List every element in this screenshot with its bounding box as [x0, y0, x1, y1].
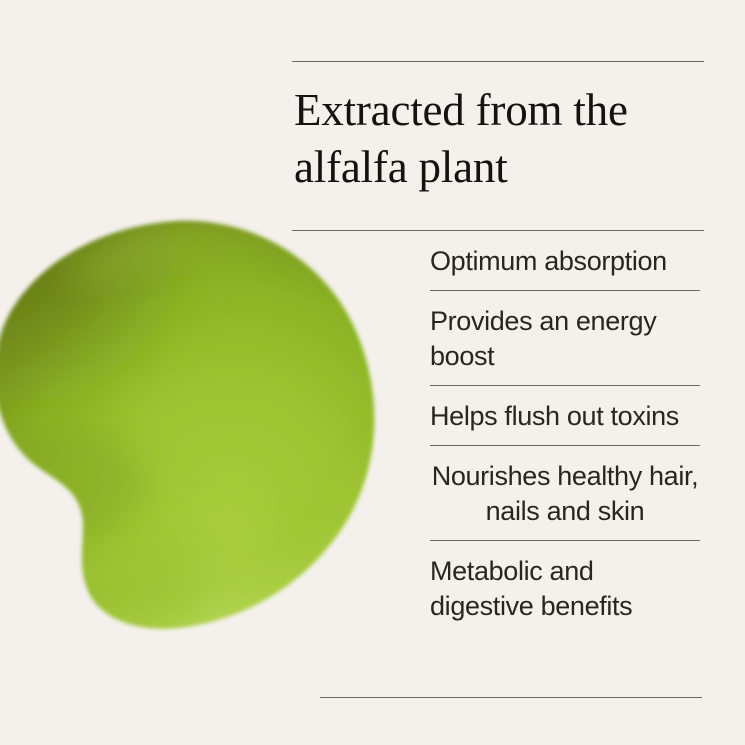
product-benefits-card: Extracted from the alfalfa plant Optimum… [0, 0, 745, 745]
benefit-item-optimum-absorption: Optimum absorption [430, 244, 700, 291]
benefits-list: Optimum absorption Provides an energy bo… [430, 244, 700, 635]
benefit-item-flush-toxins: Helps flush out toxins [430, 399, 700, 446]
divider-top [292, 61, 704, 62]
divider-under-title [292, 230, 704, 231]
page-title: Extracted from the alfalfa plant [294, 82, 694, 196]
benefit-item-hair-nails-skin: Nourishes healthy hair, nails and skin [430, 459, 700, 541]
benefit-item-metabolic-digestive: Metabolic and digestive benefits [430, 554, 700, 635]
divider-bottom [320, 697, 702, 698]
content-column: Extracted from the alfalfa plant Optimum… [292, 0, 704, 745]
benefit-item-energy-boost: Provides an energy boost [430, 304, 700, 386]
